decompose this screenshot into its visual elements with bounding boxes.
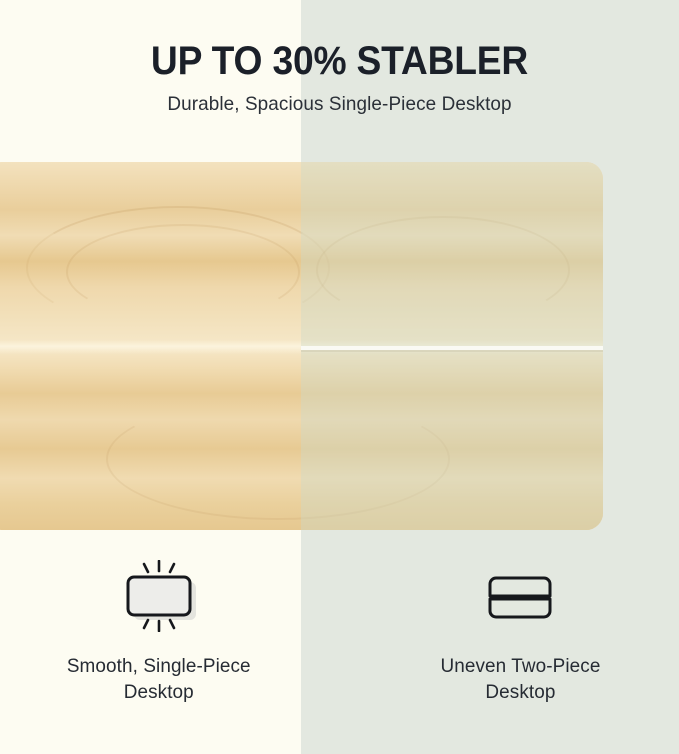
caption-line-1: Smooth, Single-Piece bbox=[67, 655, 251, 677]
infographic-root: UP TO 30% STABLER Durable, Spacious Sing… bbox=[0, 0, 679, 754]
page-subtitle: Durable, Spacious Single-Piece Desktop bbox=[10, 82, 669, 116]
two-piece-desktop-seam-icon bbox=[476, 560, 564, 632]
desktop-product-image bbox=[0, 162, 603, 530]
caption-line-2: Desktop bbox=[124, 681, 194, 703]
two-piece-seam-shadow bbox=[301, 350, 603, 352]
caption-line-2: Desktop bbox=[485, 681, 555, 703]
caption-line-1: Uneven Two-Piece bbox=[440, 655, 600, 677]
comparison-item-two-piece: Uneven Two-Piece Desktop bbox=[340, 560, 679, 720]
comparison-caption-two-piece: Uneven Two-Piece Desktop bbox=[440, 654, 600, 705]
wood-grain-arc bbox=[66, 224, 300, 320]
single-piece-desktop-sparkle-icon bbox=[115, 560, 203, 632]
comparison-item-single-piece: Smooth, Single-Piece Desktop bbox=[0, 560, 340, 720]
page-title: UP TO 30% STABLER bbox=[24, 0, 655, 82]
header-block: UP TO 30% STABLER Durable, Spacious Sing… bbox=[0, 0, 679, 117]
comparison-row: Smooth, Single-Piece Desktop Uneven Two-… bbox=[0, 560, 679, 720]
comparison-caption-single-piece: Smooth, Single-Piece Desktop bbox=[67, 654, 251, 705]
